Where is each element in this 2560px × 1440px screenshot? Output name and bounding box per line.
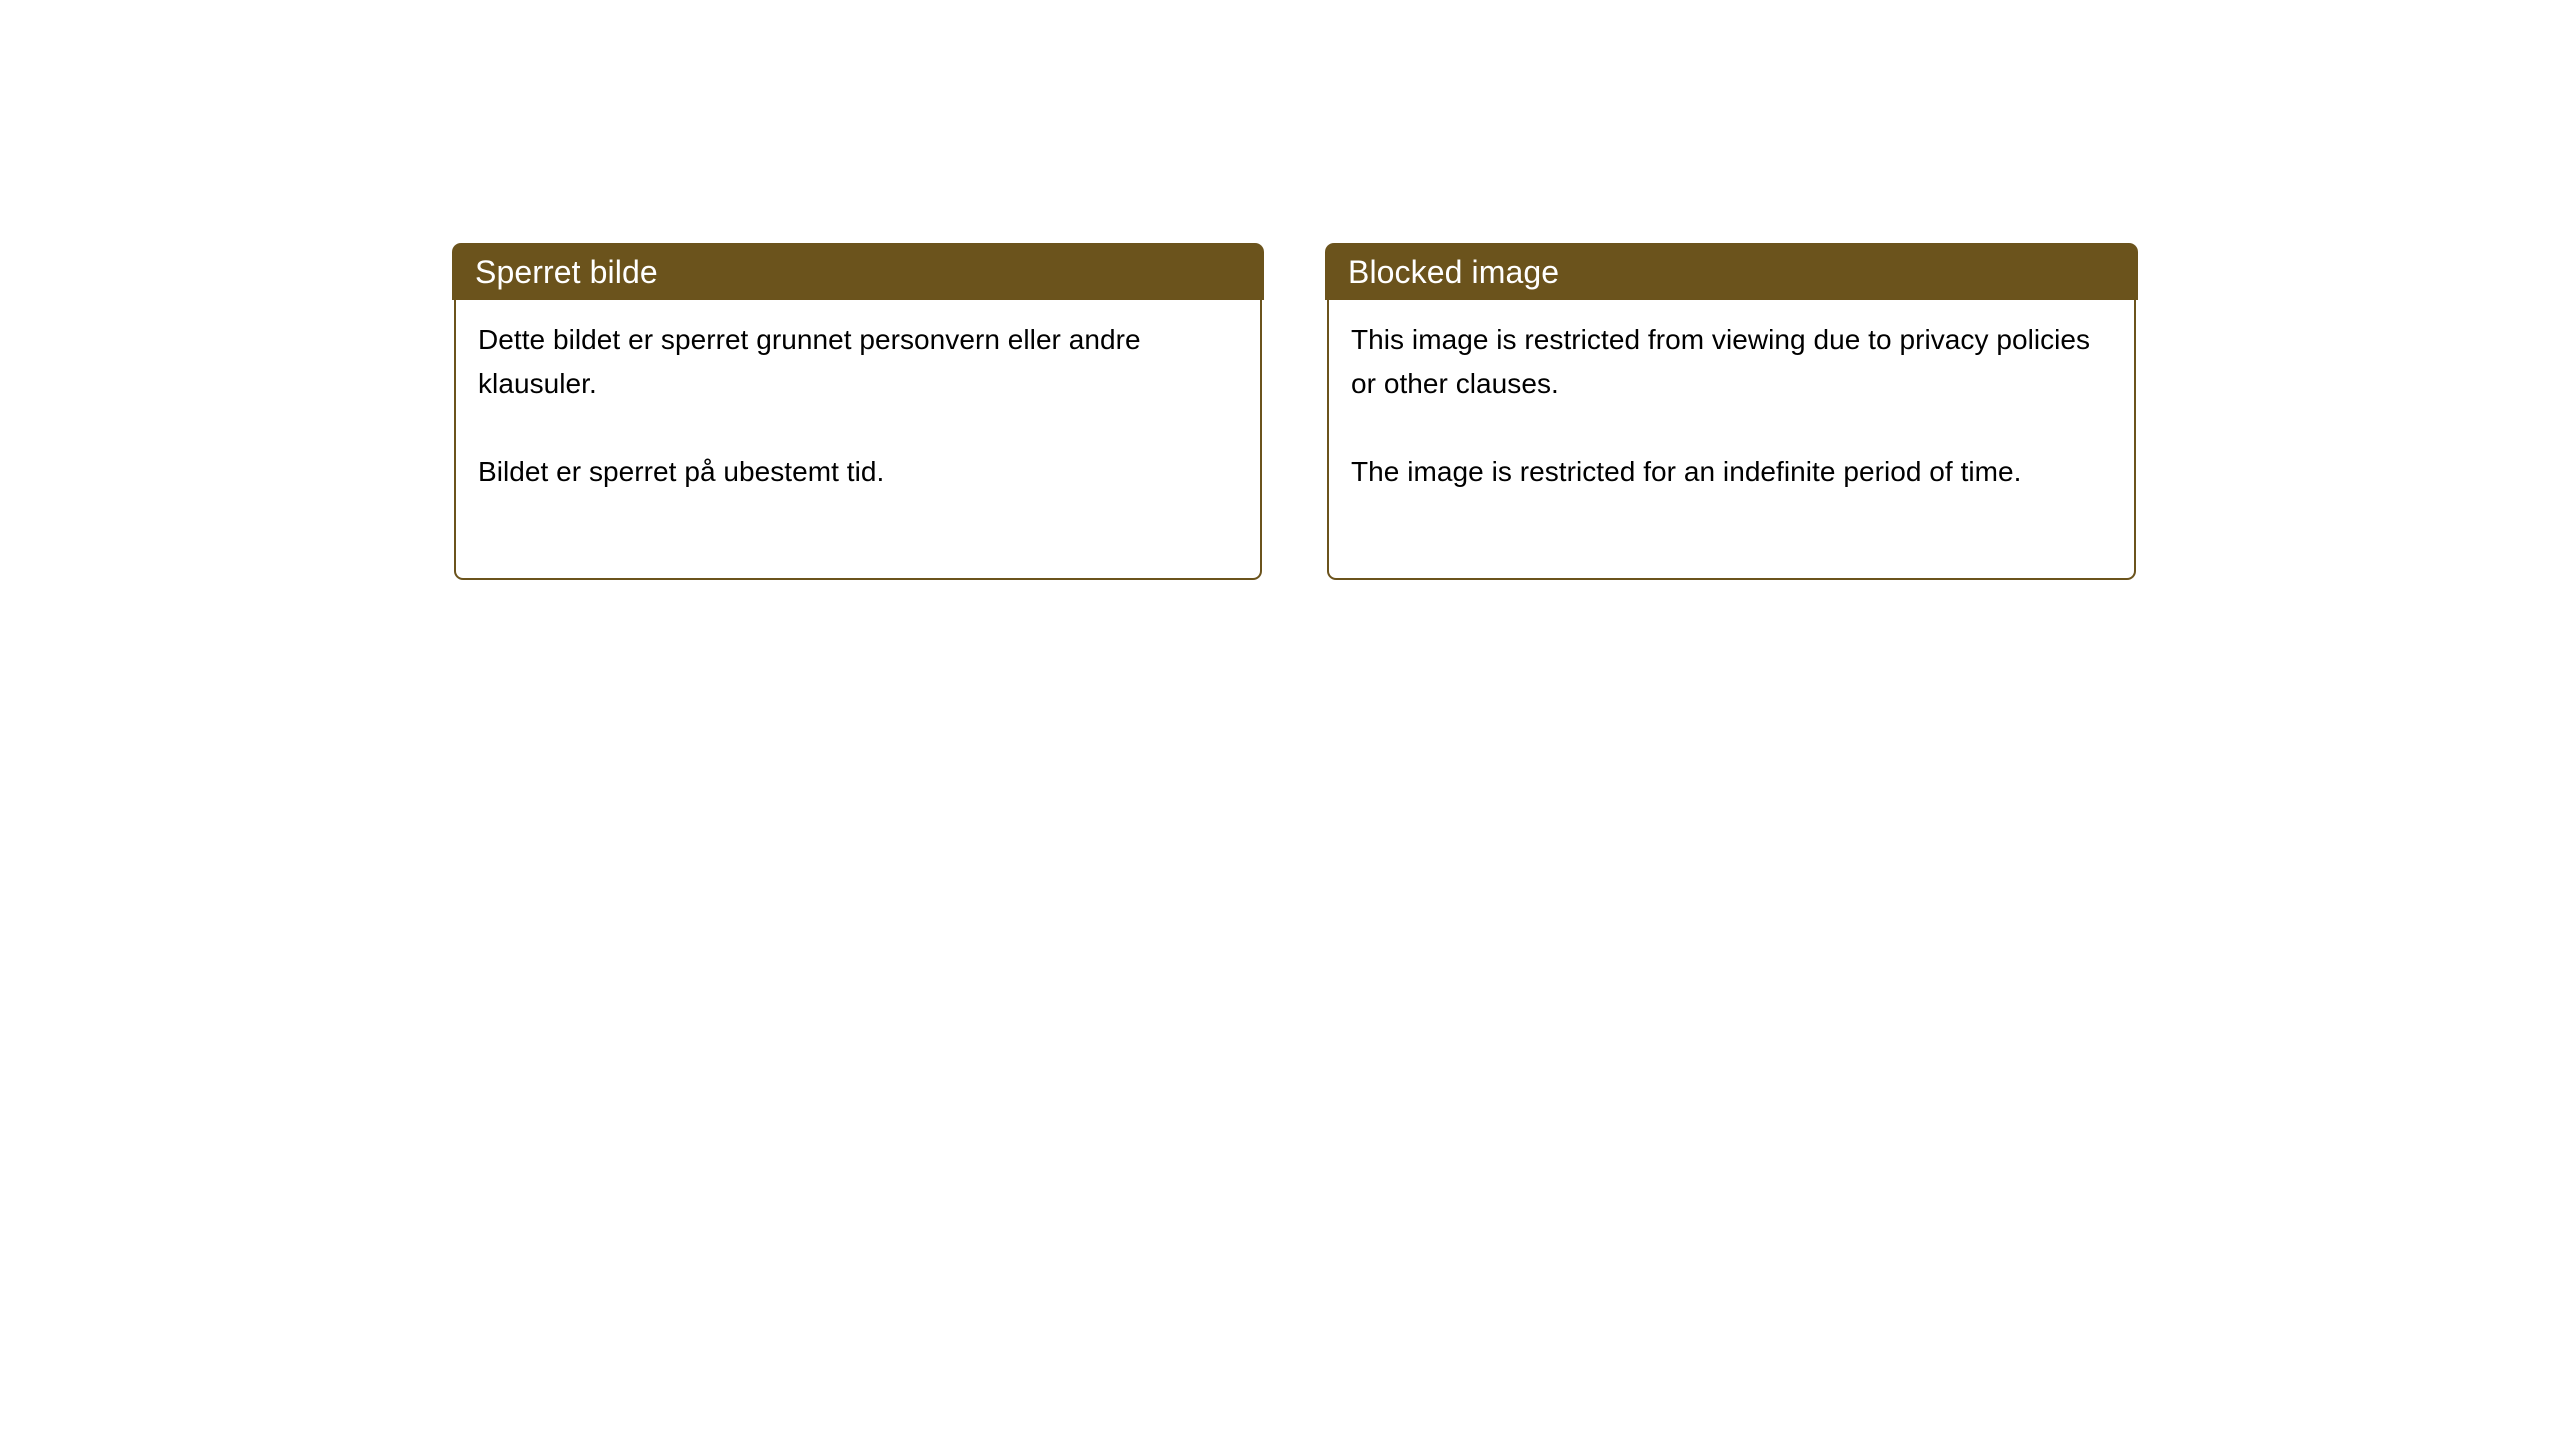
card-paragraph: Dette bildet er sperret grunnet personve…: [478, 318, 1238, 406]
card-paragraph: The image is restricted for an indefinit…: [1351, 450, 2112, 494]
card-header-nb: Sperret bilde: [452, 243, 1264, 300]
card-body-nb: Dette bildet er sperret grunnet personve…: [454, 299, 1262, 580]
blocked-image-card-en: Blocked image This image is restricted f…: [1325, 243, 2138, 580]
card-header-en: Blocked image: [1325, 243, 2138, 300]
card-title-nb: Sperret bilde: [475, 254, 658, 290]
blocked-image-card-nb: Sperret bilde Dette bildet er sperret gr…: [452, 243, 1264, 580]
card-paragraph: Bildet er sperret på ubestemt tid.: [478, 450, 1238, 494]
card-title-en: Blocked image: [1348, 254, 1559, 290]
page-root: Sperret bilde Dette bildet er sperret gr…: [0, 0, 2560, 1440]
card-body-en: This image is restricted from viewing du…: [1327, 299, 2136, 580]
card-paragraph: This image is restricted from viewing du…: [1351, 318, 2112, 406]
